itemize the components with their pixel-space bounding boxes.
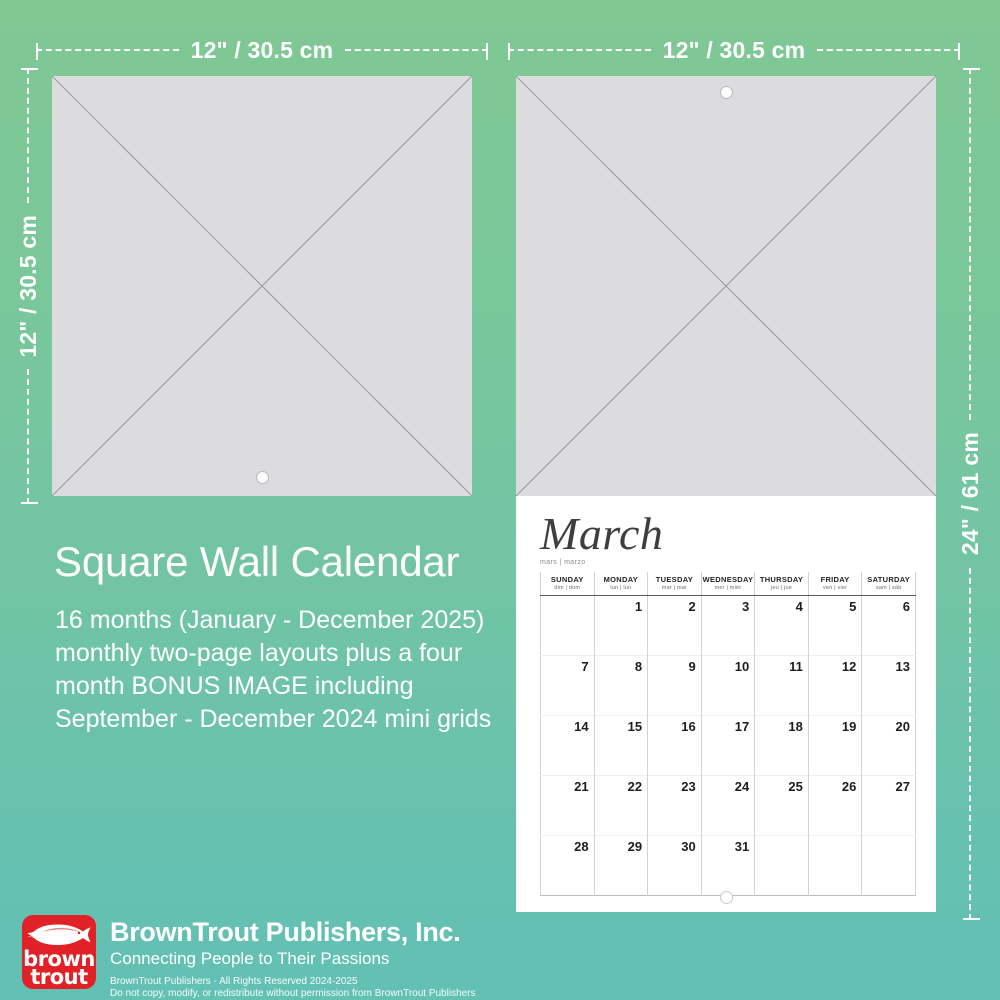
calendar-day-header-wednesday: WEDNESDAY mer | miér bbox=[701, 572, 755, 596]
calendar-image-placeholder-left bbox=[52, 76, 472, 496]
calendar-grid-panel: March mars | marzo SUNDAY dim | dom MOND… bbox=[516, 496, 936, 912]
calendar-day-cell: 21 bbox=[541, 776, 595, 836]
calendar-day-cell: 29 bbox=[594, 836, 648, 896]
calendar-day-cell: 30 bbox=[648, 836, 702, 896]
product-description: 16 months (January - December 2025) mont… bbox=[55, 604, 515, 736]
calendar-day-cell: 23 bbox=[648, 776, 702, 836]
calendar-week-row: 28 29 30 31 bbox=[541, 836, 916, 896]
product-spec-page: 12" / 30.5 cm 12" / 30.5 cm 12" / 30.5 c… bbox=[0, 0, 1000, 1000]
calendar-day-cell: 19 bbox=[808, 716, 862, 776]
calendar-day-cell: 5 bbox=[808, 596, 862, 656]
dimension-line-segment bbox=[27, 369, 29, 504]
calendar-day-cell: 2 bbox=[648, 596, 702, 656]
dimension-top-right: 12" / 30.5 cm bbox=[508, 36, 960, 64]
calendar-day-cell: 1 bbox=[594, 596, 648, 656]
calendar-day-cell: 7 bbox=[541, 656, 595, 716]
placeholder-cross-lines bbox=[516, 76, 936, 496]
calendar-day-cell: 27 bbox=[862, 776, 916, 836]
dimension-top-right-label: 12" / 30.5 cm bbox=[651, 37, 818, 64]
dimension-line-segment bbox=[27, 68, 29, 203]
brand-name: BrownTrout Publishers, Inc. bbox=[110, 917, 476, 947]
calendar-table: SUNDAY dim | dom MONDAY lun | lun TUESDA… bbox=[540, 572, 916, 896]
calendar-day-cell bbox=[541, 596, 595, 656]
description-line: monthly two-page layouts plus a four bbox=[55, 637, 515, 670]
legal-line: Do not copy, modify, or redistribute wit… bbox=[110, 988, 476, 1000]
punch-hole-icon bbox=[720, 86, 733, 99]
calendar-week-row: 7 8 9 10 11 12 13 bbox=[541, 656, 916, 716]
calendar-day-header-friday: FRIDAY ven | vier bbox=[808, 572, 862, 596]
calendar-header-row: SUNDAY dim | dom MONDAY lun | lun TUESDA… bbox=[541, 572, 916, 596]
calendar-day-cell bbox=[755, 836, 809, 896]
calendar-day-cell: 31 bbox=[701, 836, 755, 896]
dimension-line-segment bbox=[36, 49, 179, 51]
calendar-day-header-saturday: SATURDAY sam | sáb bbox=[862, 572, 916, 596]
description-line: September - December 2024 mini grids bbox=[55, 703, 515, 736]
calendar-day-cell: 22 bbox=[594, 776, 648, 836]
legal-line: BrownTrout Publishers - All Rights Reser… bbox=[110, 976, 476, 988]
calendar-day-cell bbox=[808, 836, 862, 896]
calendar-day-cell: 9 bbox=[648, 656, 702, 716]
calendar-day-cell: 24 bbox=[701, 776, 755, 836]
calendar-day-header-tuesday: TUESDAY mar | mar bbox=[648, 572, 702, 596]
punch-hole-icon bbox=[720, 891, 733, 904]
day-header-name: WEDNESDAY bbox=[702, 575, 755, 584]
day-header-sub: dim | dom bbox=[541, 584, 594, 592]
calendar-month-title: March bbox=[540, 510, 916, 558]
calendar-day-header-sunday: SUNDAY dim | dom bbox=[541, 572, 595, 596]
calendar-day-cell: 10 bbox=[701, 656, 755, 716]
calendar-day-cell: 18 bbox=[755, 716, 809, 776]
calendar-day-cell: 3 bbox=[701, 596, 755, 656]
calendar-day-cell: 25 bbox=[755, 776, 809, 836]
day-header-sub: mar | mar bbox=[648, 584, 701, 592]
logo-word-trout: trout bbox=[22, 967, 96, 987]
day-header-name: SATURDAY bbox=[862, 575, 915, 584]
calendar-week-row: 1 2 3 4 5 6 bbox=[541, 596, 916, 656]
day-header-name: THURSDAY bbox=[755, 575, 808, 584]
calendar-day-cell: 13 bbox=[862, 656, 916, 716]
dimension-line-segment bbox=[508, 49, 651, 51]
dimension-left-vertical-label: 12" / 30.5 cm bbox=[15, 203, 42, 370]
calendar-day-cell: 14 bbox=[541, 716, 595, 776]
calendar-day-cell: 11 bbox=[755, 656, 809, 716]
calendar-day-cell: 15 bbox=[594, 716, 648, 776]
footer-text-block: BrownTrout Publishers, Inc. Connecting P… bbox=[110, 915, 476, 1000]
punch-hole-icon bbox=[256, 471, 269, 484]
calendar-week-row: 14 15 16 17 18 19 20 bbox=[541, 716, 916, 776]
day-header-sub: jeu | jue bbox=[755, 584, 808, 592]
dimension-line-segment bbox=[969, 568, 971, 920]
calendar-day-header-thursday: THURSDAY jeu | jue bbox=[755, 572, 809, 596]
dimension-right-vertical-label: 24" / 61 cm bbox=[957, 420, 984, 567]
calendar-day-cell: 12 bbox=[808, 656, 862, 716]
calendar-day-cell: 4 bbox=[755, 596, 809, 656]
calendar-week-row: 21 22 23 24 25 26 27 bbox=[541, 776, 916, 836]
day-header-sub: lun | lun bbox=[595, 584, 648, 592]
calendar-day-cell: 16 bbox=[648, 716, 702, 776]
calendar-day-cell bbox=[862, 836, 916, 896]
day-header-name: TUESDAY bbox=[648, 575, 701, 584]
browntrout-logo: brown trout bbox=[22, 915, 96, 989]
calendar-day-cell: 8 bbox=[594, 656, 648, 716]
calendar-day-cell: 20 bbox=[862, 716, 916, 776]
dimension-line-segment bbox=[817, 49, 960, 51]
dimension-top-left: 12" / 30.5 cm bbox=[36, 36, 488, 64]
trout-fish-icon bbox=[27, 922, 91, 948]
footer-branding: brown trout BrownTrout Publishers, Inc. … bbox=[22, 915, 476, 1000]
placeholder-cross-lines bbox=[52, 76, 472, 496]
dimension-right-vertical: 24" / 61 cm bbox=[956, 68, 984, 920]
description-line: 16 months (January - December 2025) bbox=[55, 604, 515, 637]
day-header-name: MONDAY bbox=[595, 575, 648, 584]
calendar-day-cell: 26 bbox=[808, 776, 862, 836]
day-header-sub: sam | sáb bbox=[862, 584, 915, 592]
page-title: Square Wall Calendar bbox=[54, 538, 459, 586]
dimension-top-left-label: 12" / 30.5 cm bbox=[179, 37, 346, 64]
day-header-name: FRIDAY bbox=[809, 575, 862, 584]
dimension-line-segment bbox=[345, 49, 488, 51]
calendar-image-placeholder-right bbox=[516, 76, 936, 496]
day-header-sub: mer | miér bbox=[702, 584, 755, 592]
calendar-month-subtitle: mars | marzo bbox=[540, 559, 916, 566]
dimension-left-vertical: 12" / 30.5 cm bbox=[14, 68, 42, 504]
calendar-day-cell: 6 bbox=[862, 596, 916, 656]
brand-tagline: Connecting People to Their Passions bbox=[110, 948, 476, 970]
legal-notice: BrownTrout Publishers - All Rights Reser… bbox=[110, 976, 476, 1000]
calendar-day-header-monday: MONDAY lun | lun bbox=[594, 572, 648, 596]
calendar-inner: March mars | marzo SUNDAY dim | dom MOND… bbox=[540, 510, 916, 882]
day-header-name: SUNDAY bbox=[541, 575, 594, 584]
calendar-day-cell: 28 bbox=[541, 836, 595, 896]
calendar-day-cell: 17 bbox=[701, 716, 755, 776]
day-header-sub: ven | vier bbox=[809, 584, 862, 592]
description-line: month BONUS IMAGE including bbox=[55, 670, 515, 703]
dimension-line-segment bbox=[969, 68, 971, 420]
